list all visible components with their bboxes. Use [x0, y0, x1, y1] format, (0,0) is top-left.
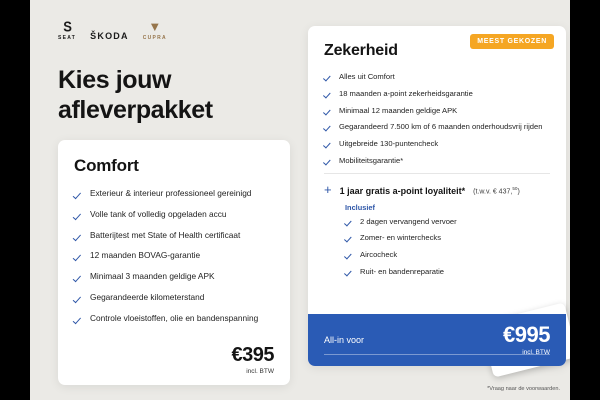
- cupra-emblem-icon: ▼: [148, 20, 161, 33]
- feature-label: Alles uit Comfort: [339, 72, 395, 83]
- feature-label: Ruit- en bandenreparatie: [360, 267, 444, 278]
- zekerheid-feature-list: Alles uit Comfort 18 maanden a-point zek…: [324, 72, 550, 167]
- check-icon: [345, 251, 353, 259]
- list-item: Volle tank of volledig opgeladen accu: [74, 209, 274, 221]
- feature-label: Aircocheck: [360, 250, 397, 261]
- check-icon: [74, 211, 83, 220]
- footnote: *Vraag naar de voorwaarden.: [487, 386, 560, 392]
- loyalty-offer-title: 1 jaar gratis a-point loyaliteit*: [340, 186, 466, 196]
- comfort-card-title: Comfort: [74, 156, 274, 176]
- list-item: Aircocheck: [345, 250, 550, 261]
- feature-label: Minimaal 3 maanden geldige APK: [90, 271, 215, 283]
- zekerheid-price-bar: All-in voor €995 incl. BTW: [308, 314, 566, 366]
- check-icon: [74, 232, 83, 241]
- page-title: Kies jouw afleverpakket: [58, 66, 213, 125]
- check-icon: [345, 234, 353, 242]
- check-icon: [324, 123, 332, 131]
- comfort-price: €395: [232, 345, 275, 365]
- feature-label: 12 maanden BOVAG-garantie: [90, 250, 200, 262]
- check-icon: [74, 294, 83, 303]
- seat-logo: S SEAT: [58, 20, 76, 41]
- feature-label: Exterieur & interieur professioneel gere…: [90, 188, 251, 200]
- check-icon: [324, 140, 332, 148]
- list-item: Uitgebreide 130-puntencheck: [324, 139, 550, 150]
- check-icon: [324, 157, 332, 165]
- package-card-zekerheid[interactable]: MEEST GEKOZEN Zekerheid Alles uit Comfor…: [308, 26, 566, 366]
- plus-icon: +: [324, 183, 332, 196]
- skoda-logo: ŠKODA: [90, 31, 129, 41]
- loyalty-value-prefix: (t.w.v. € 437,: [473, 189, 512, 196]
- zekerheid-price-block: €995 incl. BTW: [503, 324, 550, 356]
- zekerheid-price: €995: [503, 324, 550, 346]
- screenshot-stage: S SEAT ŠKODA ▼ CUPRA Kies jouw afleverpa…: [0, 0, 600, 400]
- list-item: Gegarandeerd 7.500 km of 6 maanden onder…: [324, 122, 550, 133]
- brand-logo-row: S SEAT ŠKODA ▼ CUPRA: [58, 20, 167, 41]
- feature-label: Mobiliteitsgarantie*: [339, 156, 403, 167]
- inclusief-label: Inclusief: [345, 203, 550, 212]
- skoda-wordmark: ŠKODA: [90, 31, 129, 41]
- feature-label: Zomer- en winterchecks: [360, 233, 441, 244]
- allin-label: All-in voor: [324, 335, 364, 345]
- feature-label: Gegarandeerd 7.500 km of 6 maanden onder…: [339, 122, 542, 133]
- feature-label: Controle vloeistoffen, olie en bandenspa…: [90, 313, 258, 325]
- loyalty-offer-value: (t.w.v. € 437,50): [473, 186, 520, 195]
- list-item: Gegarandeerde kilometerstand: [74, 292, 274, 304]
- cupra-logo: ▼ CUPRA: [143, 20, 167, 41]
- feature-label: 2 dagen vervangend vervoer: [360, 217, 457, 228]
- comfort-price-block: €395 incl. BTW: [232, 345, 275, 375]
- list-item: Zomer- en winterchecks: [345, 233, 550, 244]
- list-item: 2 dagen vervangend vervoer: [345, 217, 550, 228]
- page-content: S SEAT ŠKODA ▼ CUPRA Kies jouw afleverpa…: [30, 0, 570, 400]
- list-item: Alles uit Comfort: [324, 72, 550, 83]
- seat-emblem-icon: S: [63, 19, 71, 34]
- check-icon: [74, 273, 83, 282]
- list-item: Controle vloeistoffen, olie en bandenspa…: [74, 313, 274, 325]
- list-item: Mobiliteitsgarantie*: [324, 156, 550, 167]
- divider: [324, 354, 550, 355]
- loyalty-inclusief-block: Inclusief 2 dagen vervangend vervoer Zom…: [345, 203, 550, 278]
- list-item: Minimaal 12 maanden geldige APK: [324, 106, 550, 117]
- list-item: Exterieur & interieur professioneel gere…: [74, 188, 274, 200]
- check-icon: [345, 218, 353, 226]
- list-item: 18 maanden a-point zekerheidsgarantie: [324, 89, 550, 100]
- check-icon: [324, 73, 332, 81]
- comfort-price-note: incl. BTW: [232, 368, 275, 375]
- check-icon: [345, 268, 353, 276]
- seat-wordmark: SEAT: [58, 35, 76, 41]
- check-icon: [74, 315, 83, 324]
- loyalty-value-suffix: ): [517, 189, 519, 196]
- cupra-wordmark: CUPRA: [143, 35, 167, 41]
- check-icon: [324, 90, 332, 98]
- list-item: 12 maanden BOVAG-garantie: [74, 250, 274, 262]
- feature-label: Batterijtest met State of Health certifi…: [90, 230, 240, 242]
- list-item: Minimaal 3 maanden geldige APK: [74, 271, 274, 283]
- feature-label: Volle tank of volledig opgeladen accu: [90, 209, 227, 221]
- feature-label: Minimaal 12 maanden geldige APK: [339, 106, 457, 117]
- list-item: Ruit- en bandenreparatie: [345, 267, 550, 278]
- feature-label: Gegarandeerde kilometerstand: [90, 292, 204, 304]
- check-icon: [74, 252, 83, 261]
- feature-label: 18 maanden a-point zekerheidsgarantie: [339, 89, 473, 100]
- feature-label: Uitgebreide 130-puntencheck: [339, 139, 438, 150]
- list-item: Batterijtest met State of Health certifi…: [74, 230, 274, 242]
- loyalty-offer-header: + 1 jaar gratis a-point loyaliteit* (t.w…: [324, 183, 550, 196]
- check-icon: [324, 107, 332, 115]
- status-badge: MEEST GEKOZEN: [470, 34, 554, 49]
- divider: [324, 173, 550, 174]
- page-title-line-1: Kies jouw: [58, 66, 213, 96]
- comfort-feature-list: Exterieur & interieur professioneel gere…: [74, 188, 274, 324]
- check-icon: [74, 190, 83, 199]
- page-title-line-2: afleverpakket: [58, 96, 213, 126]
- package-card-comfort[interactable]: Comfort Exterieur & interieur profession…: [58, 140, 290, 385]
